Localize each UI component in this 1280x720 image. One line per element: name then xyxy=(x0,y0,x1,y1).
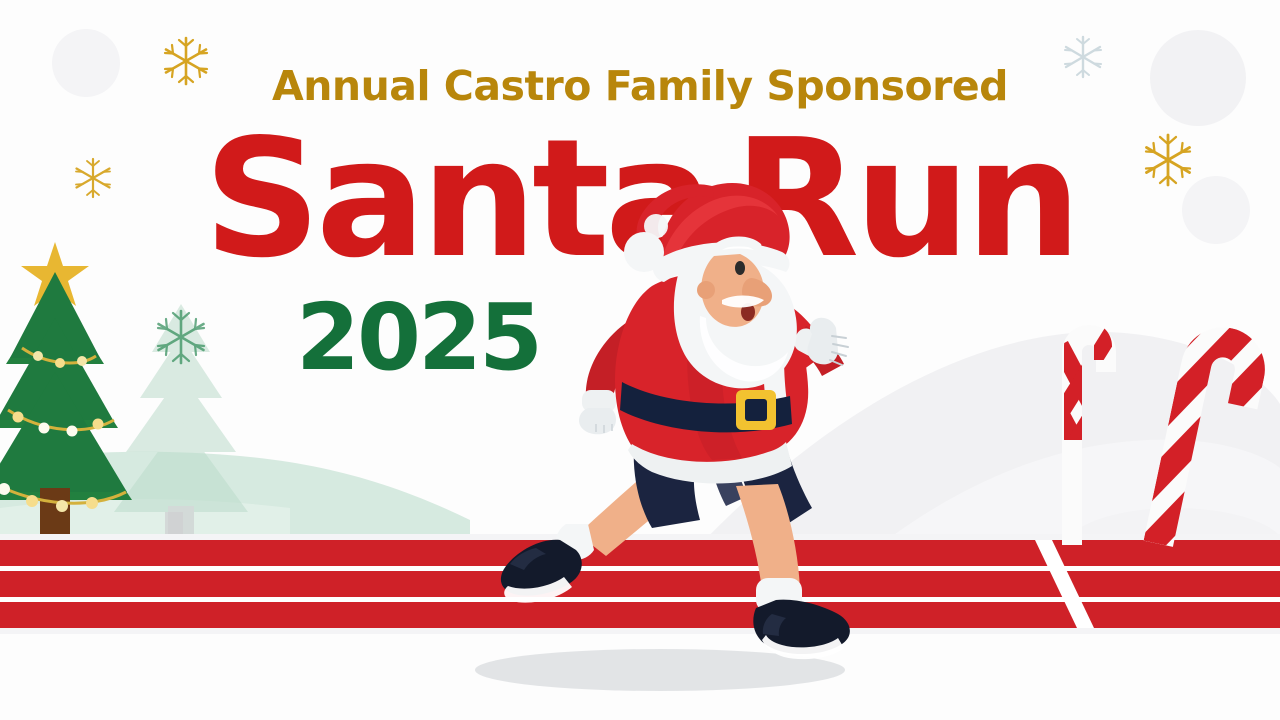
santa-eyebrow xyxy=(718,240,758,246)
santa-eye xyxy=(735,261,745,275)
santa-glove-back xyxy=(579,408,616,434)
santa-run-poster: Annual Castro Family Sponsored SantaRun … xyxy=(0,0,1280,720)
santa-ear xyxy=(697,281,715,299)
santa-glove-front xyxy=(808,318,839,365)
running-santa xyxy=(0,0,1280,720)
santa-hat-pompom xyxy=(624,232,664,272)
